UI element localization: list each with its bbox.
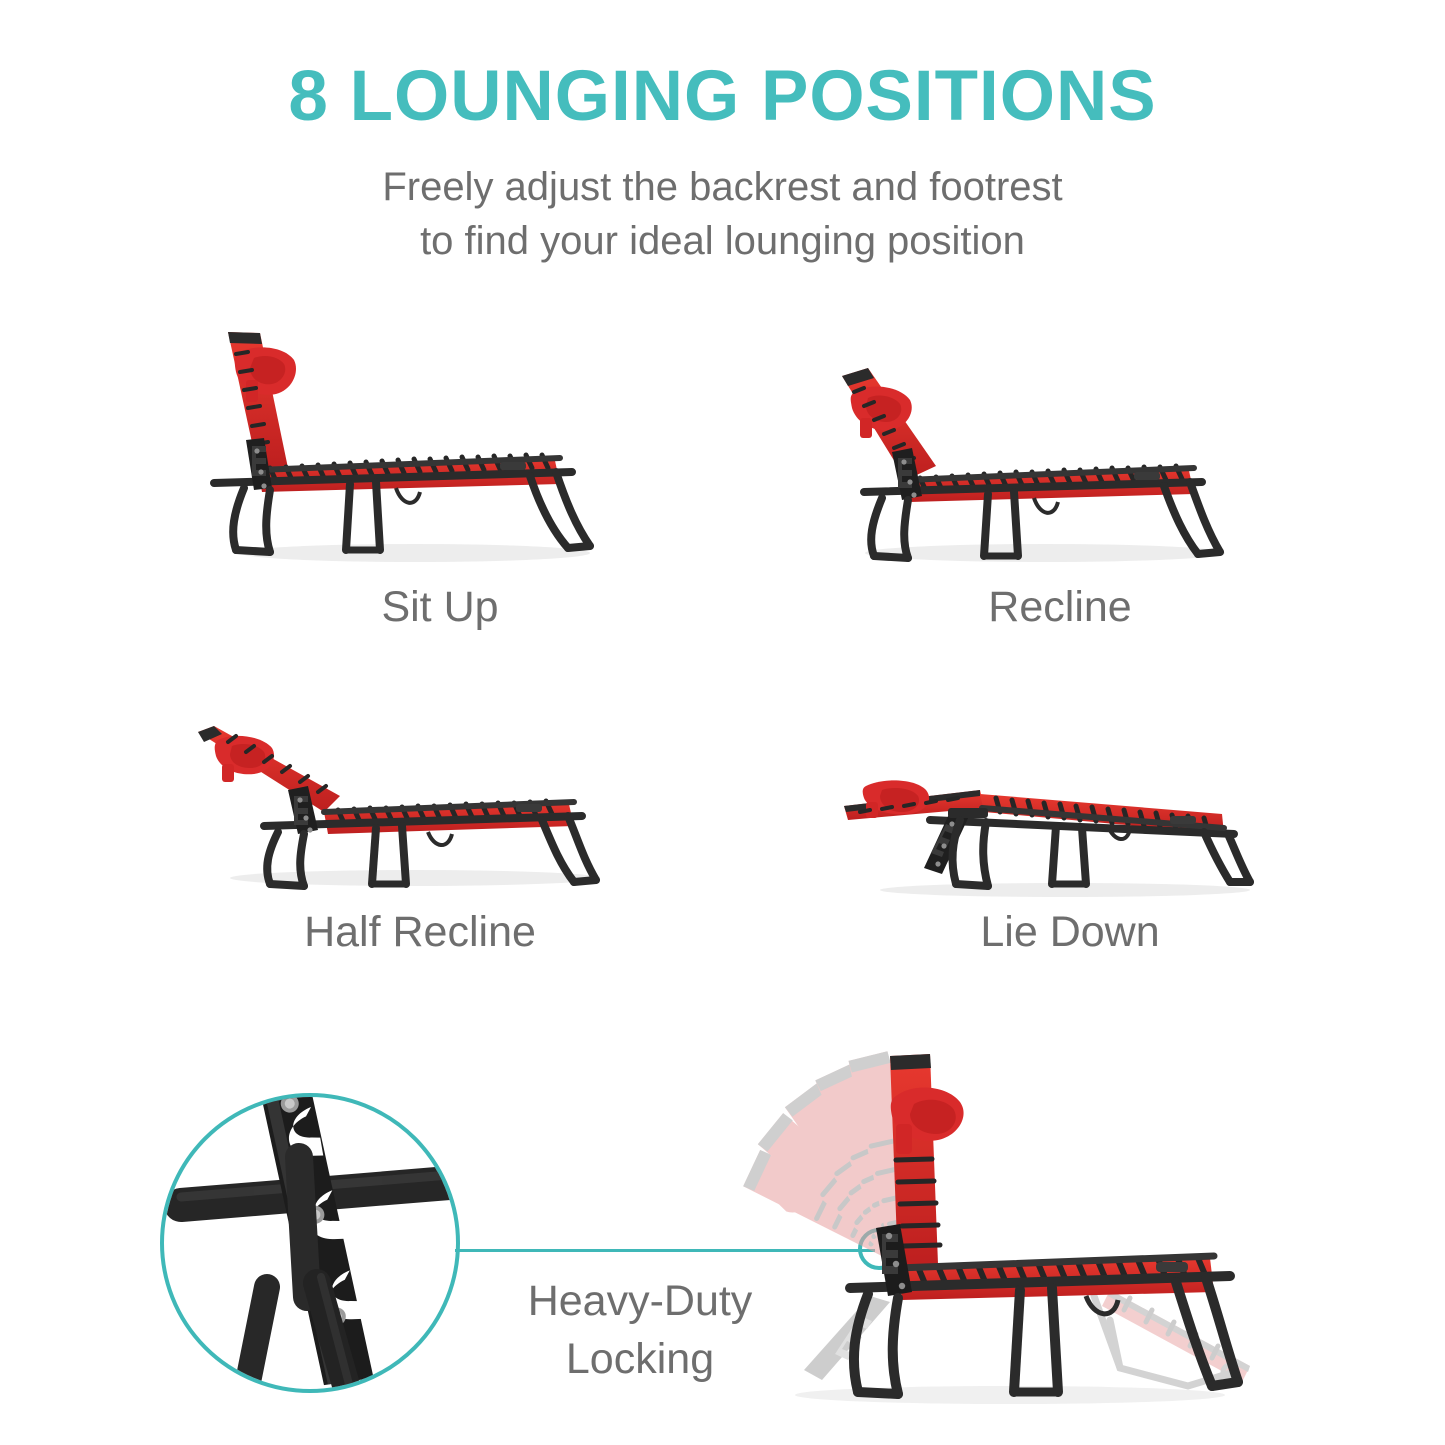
position-card-recline: Recline (820, 340, 1300, 640)
lounger-illustration-recline (820, 340, 1300, 575)
subtitle-line-1: Freely adjust the backrest and footrest (0, 160, 1445, 214)
infographic-canvas: 8 LOUNGING POSITIONS Freely adjust the b… (0, 0, 1445, 1445)
position-card-lie-down: Lie Down (830, 750, 1310, 1000)
locking-detail-callout (160, 1093, 460, 1393)
lounger-svg-half-recline (180, 700, 660, 895)
position-card-sit-up: Sit Up (200, 320, 680, 640)
position-label-sit-up: Sit Up (200, 583, 680, 632)
position-card-half-recline: Half Recline (180, 700, 660, 1000)
position-label-recline: Recline (820, 583, 1300, 632)
subtitle-line-2: to find your ideal lounging position (0, 214, 1445, 268)
lounger-svg-sit-up (200, 320, 680, 570)
lounger-svg-lie-down (830, 750, 1310, 900)
lounger-illustration-adjustable-range (690, 1020, 1270, 1425)
page-subtitle: Freely adjust the backrest and footrest … (0, 160, 1445, 268)
position-label-lie-down: Lie Down (830, 908, 1310, 957)
position-label-half-recline: Half Recline (180, 908, 660, 957)
ghost-ratchet-arm (804, 1296, 890, 1380)
lounger-illustration-sit-up (200, 320, 680, 575)
lounger-illustration-lie-down (830, 750, 1310, 905)
lounger-svg-recline (820, 340, 1300, 570)
ratchet-lock-icon (160, 1093, 460, 1393)
lounger-illustration-half-recline (180, 700, 660, 900)
lounger-svg-fan-positions (690, 1020, 1270, 1420)
page-title: 8 LOUNGING POSITIONS (0, 60, 1445, 135)
